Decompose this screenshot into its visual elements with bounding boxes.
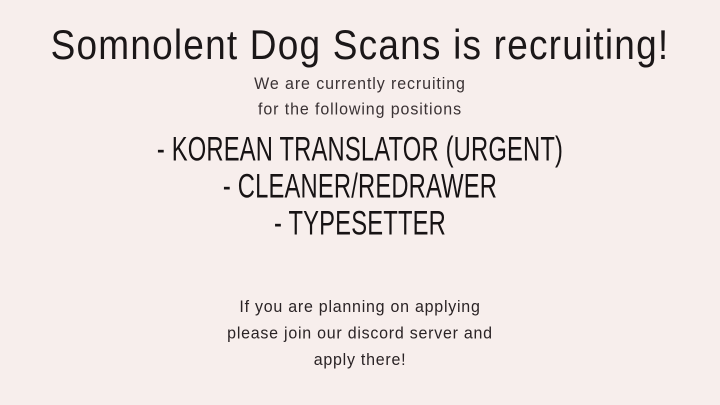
list-item: - TYPESETTER bbox=[43, 200, 677, 247]
subtitle-line-2: for the following positions bbox=[0, 97, 720, 122]
subtitle-line-1: We are currently recruiting bbox=[0, 72, 720, 97]
closing-line-1: If you are planning on applying bbox=[0, 294, 720, 321]
page-title: Somnolent Dog Scans is recruiting! bbox=[0, 21, 720, 70]
closing-line-2: please join our discord server and bbox=[0, 321, 720, 348]
recruitment-poster: Somnolent Dog Scans is recruiting! We ar… bbox=[0, 0, 720, 405]
closing-line-3: apply there! bbox=[0, 347, 720, 374]
open-positions-list: - KOREAN TRANSLATOR (URGENT) - CLEANER/R… bbox=[0, 131, 720, 242]
subtitle-block: We are currently recruiting for the foll… bbox=[0, 72, 720, 123]
closing-instructions: If you are planning on applying please j… bbox=[0, 294, 720, 374]
